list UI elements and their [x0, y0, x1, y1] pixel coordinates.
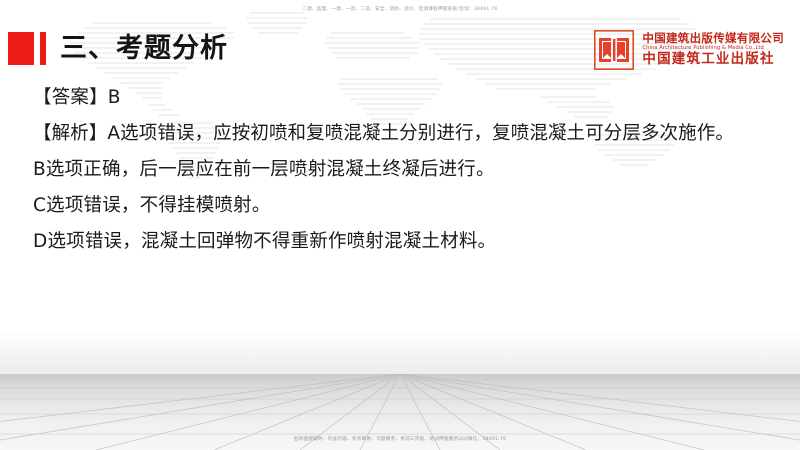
title-accent-bar-thin: [40, 32, 46, 65]
publisher-logo-text: 中国建筑出版传媒有限公司 China Architecture Publishi…: [642, 32, 784, 68]
publisher-press-cn: 中国建筑工业出版社: [642, 52, 784, 68]
header-watermark-note: 二建、监理、一建、一造、二造、安全、消防、造价、检测课程押题系统/咨询：3849…: [0, 6, 800, 12]
option-b-line: B选项正确，后一层应在前一层喷射混凝土终凝后进行。: [33, 152, 773, 188]
title-accent-bar-wide: [8, 32, 34, 65]
slide-title-row: 三、考题分析: [0, 26, 228, 70]
publisher-company-cn: 中国建筑出版传媒有限公司: [642, 32, 784, 45]
answer-line: 【答案】B: [33, 80, 773, 116]
footer-watermark-note: 名师面授辅导、内含内容、考点串讲、习题模考、考前三页纸、培训押题服务QQ/微信：…: [0, 436, 800, 442]
content-body: 【答案】B 【解析】A选项错误，应按初喷和复喷混凝土分别进行，复喷混凝土可分层多…: [33, 80, 773, 260]
slide-canvas: 二建、监理、一建、一造、二造、安全、消防、造价、检测课程押题系统/咨询：3849…: [0, 0, 800, 450]
page-title: 三、考题分析: [60, 35, 228, 62]
publisher-logo: 中国建筑出版传媒有限公司 China Architecture Publishi…: [594, 27, 784, 73]
analysis-line: 【解析】A选项错误，应按初喷和复喷混凝土分别进行，复喷混凝土可分层多次施作。: [33, 116, 773, 152]
option-c-line: C选项错误，不得挂模喷射。: [33, 188, 773, 224]
open-book-emblem-icon: [594, 30, 634, 70]
wall-shading: [0, 330, 800, 374]
option-d-line: D选项错误，混凝土回弹物不得重新作喷射混凝土材料。: [33, 224, 773, 260]
